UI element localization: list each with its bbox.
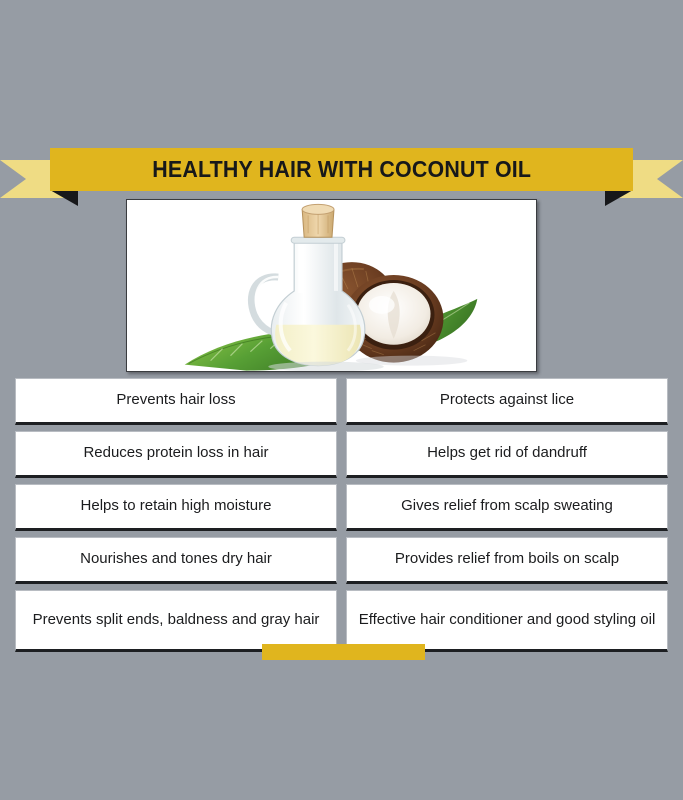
infographic-root: HEALTHY HAIR WITH COCONUT OIL xyxy=(0,0,683,800)
benefits-column-left: Prevents hair loss Reduces protein loss … xyxy=(15,378,337,652)
benefit-text: Prevents split ends, baldness and gray h… xyxy=(33,610,320,630)
benefit-text: Protects against lice xyxy=(440,390,574,410)
benefits-columns: Prevents hair loss Reduces protein loss … xyxy=(15,378,668,652)
benefit-card[interactable]: Gives relief from scalp sweating xyxy=(346,484,668,531)
ribbon-band: HEALTHY HAIR WITH COCONUT OIL xyxy=(50,148,633,191)
ribbon-fold-left-icon xyxy=(50,190,78,206)
benefit-text: Nourishes and tones dry hair xyxy=(80,549,272,569)
benefit-text: Gives relief from scalp sweating xyxy=(401,496,613,516)
coconut-oil-illustration xyxy=(127,200,536,371)
benefit-text: Reduces protein loss in hair xyxy=(83,443,268,463)
benefit-card[interactable]: Provides relief from boils on scalp xyxy=(346,537,668,584)
footer-accent-bar xyxy=(262,644,425,660)
benefit-card[interactable]: Prevents split ends, baldness and gray h… xyxy=(15,590,337,652)
benefit-card[interactable]: Helps to retain high moisture xyxy=(15,484,337,531)
benefit-card[interactable]: Helps get rid of dandruff xyxy=(346,431,668,478)
benefit-text: Helps get rid of dandruff xyxy=(427,443,587,463)
benefit-card[interactable]: Nourishes and tones dry hair xyxy=(15,537,337,584)
ribbon-fold-right-icon xyxy=(605,190,633,206)
benefit-card[interactable]: Prevents hair loss xyxy=(15,378,337,425)
benefit-text: Prevents hair loss xyxy=(116,390,235,410)
header-ribbon: HEALTHY HAIR WITH COCONUT OIL xyxy=(0,148,683,204)
benefit-card[interactable]: Effective hair conditioner and good styl… xyxy=(346,590,668,652)
benefit-text: Helps to retain high moisture xyxy=(81,496,272,516)
benefit-text: Effective hair conditioner and good styl… xyxy=(359,610,656,630)
hero-image xyxy=(126,199,537,372)
benefit-card[interactable]: Protects against lice xyxy=(346,378,668,425)
benefits-column-right: Protects against lice Helps get rid of d… xyxy=(346,378,668,652)
benefit-card[interactable]: Reduces protein loss in hair xyxy=(15,431,337,478)
page-title: HEALTHY HAIR WITH COCONUT OIL xyxy=(152,156,531,183)
benefit-text: Provides relief from boils on scalp xyxy=(395,549,619,569)
